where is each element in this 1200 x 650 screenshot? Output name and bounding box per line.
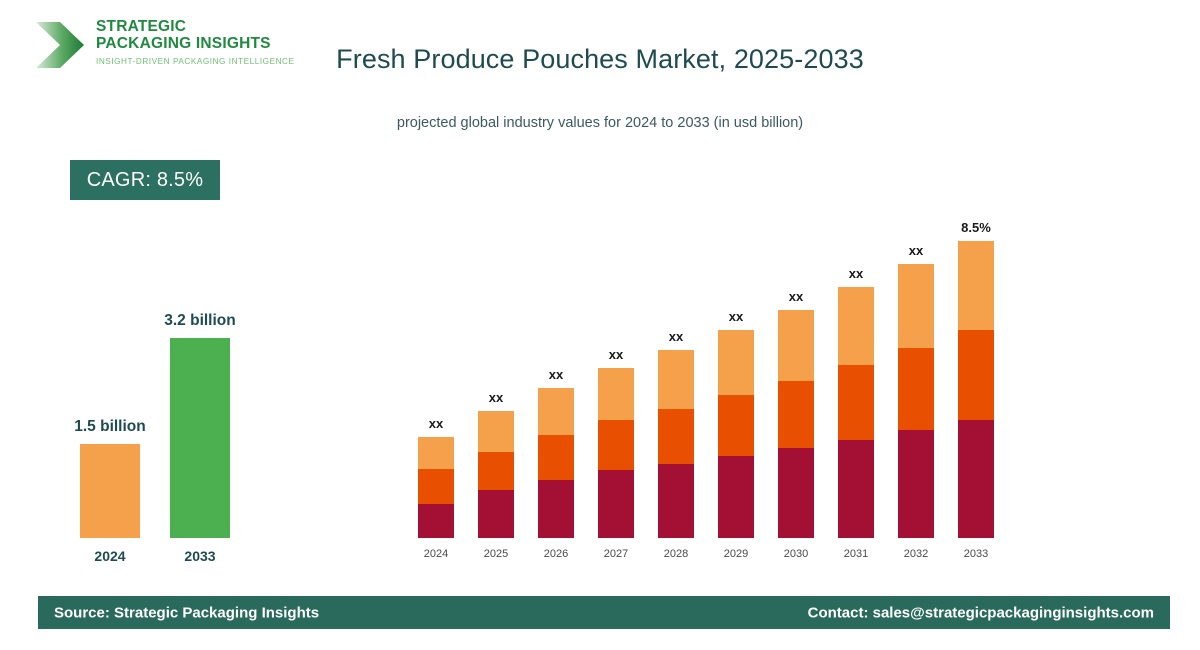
stacked-bar-year-label: 2024 — [406, 548, 466, 560]
stacked-bar-top-label: xx — [876, 243, 956, 258]
stacked-bar-year-label: 2030 — [766, 548, 826, 560]
stacked-bar-column: 8.5%2033 — [958, 233, 994, 570]
stacked-bar-top-label: xx — [456, 390, 536, 405]
start-end-comparison-chart: 1.5 billion20243.2 billion2033 — [40, 300, 280, 570]
stacked-bar-segment-segment-top — [538, 388, 574, 435]
simple-bar-value-label: 1.5 billion — [35, 418, 185, 436]
stacked-bar-column: xx2029 — [718, 233, 754, 570]
stacked-bar-segment-segment-top — [838, 287, 874, 365]
footer-contact-text: Contact: sales@strategicpackaginginsight… — [808, 604, 1154, 621]
stacked-bar-top-label: xx — [696, 309, 776, 324]
stacked-bar — [898, 264, 934, 538]
stacked-bar-year-label: 2032 — [886, 548, 946, 560]
stacked-bar — [838, 287, 874, 538]
stacked-bar-column: xx2025 — [478, 233, 514, 570]
stacked-bar-segment-segment-middle — [838, 365, 874, 440]
stacked-bar-segment-segment-middle — [598, 420, 634, 470]
simple-bar — [80, 444, 140, 538]
stacked-bar-segment-segment-top — [718, 330, 754, 395]
stacked-bar — [418, 437, 454, 538]
stacked-bar-column: xx2032 — [898, 233, 934, 570]
stacked-bar-segment-segment-top — [418, 437, 454, 469]
stacked-bar-segment-segment-top — [958, 241, 994, 330]
stacked-bar-year-label: 2033 — [946, 548, 1006, 560]
stacked-bar-column: xx2026 — [538, 233, 574, 570]
stacked-bar — [778, 310, 814, 538]
stacked-bar-segment-segment-bottom — [418, 504, 454, 538]
stacked-bar-top-label: xx — [756, 289, 836, 304]
stacked-bar-segment-segment-bottom — [958, 420, 994, 538]
footer-source-text: Source: Strategic Packaging Insights — [54, 604, 319, 621]
stacked-bar-segment-segment-top — [778, 310, 814, 381]
stacked-bar-top-label: xx — [516, 367, 596, 382]
footer-bar: Source: Strategic Packaging Insights Con… — [38, 596, 1170, 629]
simple-bar-value-label: 3.2 billion — [125, 312, 275, 330]
simple-bar — [170, 338, 230, 538]
stacked-bar-year-label: 2026 — [526, 548, 586, 560]
stacked-bar-segment-segment-middle — [718, 395, 754, 456]
stacked-bar-segment-segment-middle — [958, 330, 994, 420]
brand-name-line1: STRATEGIC — [96, 18, 295, 35]
stacked-bar-year-label: 2029 — [706, 548, 766, 560]
stacked-bar-segment-segment-bottom — [478, 490, 514, 538]
stacked-bar-segment-segment-bottom — [538, 480, 574, 538]
stacked-bar-year-label: 2027 — [586, 548, 646, 560]
stacked-bar — [598, 368, 634, 538]
stacked-bar-top-label: xx — [636, 329, 716, 344]
stacked-bar — [538, 388, 574, 538]
simple-bar-year-label: 2033 — [170, 548, 230, 564]
stacked-bar-segment-segment-top — [598, 368, 634, 420]
stacked-bar-column: xx2024 — [418, 233, 454, 570]
simple-bar-column: 1.5 billion — [80, 338, 140, 538]
stacked-bar-segment-segment-middle — [418, 469, 454, 504]
stacked-bar-column: xx2028 — [658, 233, 694, 570]
stacked-bar-top-label: xx — [816, 266, 896, 281]
stacked-bar-segment-segment-bottom — [778, 448, 814, 538]
cagr-badge: CAGR: 8.5% — [70, 160, 220, 200]
stacked-bar-segment-segment-bottom — [718, 456, 754, 538]
stacked-bar-year-label: 2025 — [466, 548, 526, 560]
stacked-bar-segment-segment-bottom — [838, 440, 874, 538]
stacked-bar — [478, 411, 514, 538]
stacked-bar — [718, 330, 754, 538]
stacked-bar-segment-segment-middle — [538, 435, 574, 480]
stacked-bar-segment-segment-top — [658, 350, 694, 409]
stacked-bar-segment-segment-middle — [778, 381, 814, 448]
page-title: Fresh Produce Pouches Market, 2025-2033 — [0, 44, 1200, 75]
stacked-bar-segment-segment-bottom — [898, 430, 934, 538]
page-subtitle: projected global industry values for 202… — [0, 115, 1200, 131]
simple-bar-year-label: 2024 — [80, 548, 140, 564]
stacked-bar-column: xx2031 — [838, 233, 874, 570]
stacked-bar-column: xx2030 — [778, 233, 814, 570]
stacked-bar-segment-segment-top — [478, 411, 514, 452]
yearly-projection-stacked-chart: xx2024xx2025xx2026xx2027xx2028xx2029xx20… — [400, 200, 1020, 570]
stacked-bar-top-label: 8.5% — [936, 220, 1016, 235]
simple-bar-column: 3.2 billion — [170, 338, 230, 538]
stacked-bar-segment-segment-middle — [658, 409, 694, 464]
stacked-bar-segment-segment-middle — [478, 452, 514, 490]
stacked-bar — [958, 241, 994, 538]
stacked-bar-segment-segment-middle — [898, 348, 934, 430]
stacked-bar-segment-segment-top — [898, 264, 934, 348]
stacked-bar — [658, 350, 694, 538]
stacked-bar-segment-segment-bottom — [598, 470, 634, 538]
stacked-bar-top-label: xx — [576, 347, 656, 362]
stacked-bar-top-label: xx — [396, 416, 476, 431]
stacked-bar-year-label: 2028 — [646, 548, 706, 560]
stacked-bar-year-label: 2031 — [826, 548, 886, 560]
stacked-bar-segment-segment-bottom — [658, 464, 694, 538]
stacked-bar-column: xx2027 — [598, 233, 634, 570]
